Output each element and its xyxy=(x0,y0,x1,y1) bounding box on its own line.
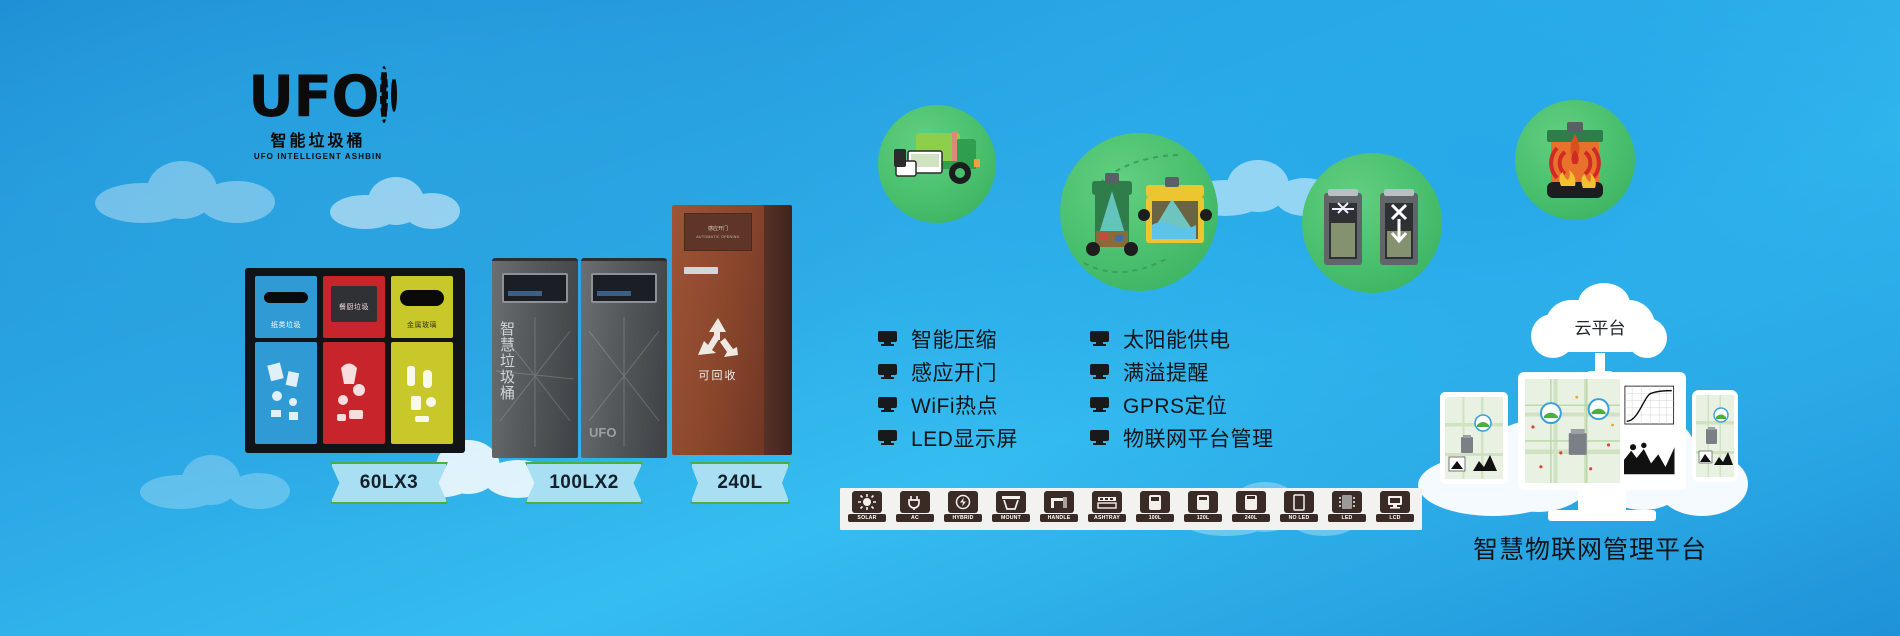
dashboard-charts-panel xyxy=(1620,379,1679,483)
ashtray-icon xyxy=(1097,495,1117,510)
feature-label: 物联网平台管理 xyxy=(1123,423,1274,453)
spec-icon-caption: AC xyxy=(896,514,934,522)
tablet-device xyxy=(1440,392,1508,484)
fire-alarm-bin-icon xyxy=(1515,100,1635,220)
gray-smart-bin: 智慧垃圾桶 UFO xyxy=(492,258,667,458)
monitor-device xyxy=(1518,372,1686,490)
feature-label: 满溢提醒 xyxy=(1123,357,1209,387)
monitor-bullet-icon xyxy=(878,364,897,379)
spec-icon-caption: SOLAR xyxy=(848,514,886,522)
feature-label: 感应开门 xyxy=(911,357,997,387)
spec-icon-lcd: LCD xyxy=(1373,491,1417,527)
feature-item: 太阳能供电 xyxy=(1090,322,1274,355)
feature-label: LED显示屏 xyxy=(911,423,1018,453)
gear-ring-icon xyxy=(380,66,388,123)
feature-item: 物联网平台管理 xyxy=(1090,421,1274,454)
bin-240l-icon xyxy=(1244,494,1258,511)
kitchen-waste-graphic xyxy=(323,342,385,442)
cloud-decoration xyxy=(140,455,290,511)
capacity-ribbon: 60LX3 xyxy=(330,462,448,504)
paper-waste-graphic xyxy=(255,342,317,442)
monitor-bullet-icon xyxy=(878,331,897,346)
bin-100l-icon xyxy=(1148,494,1162,511)
bin-sensor-strip xyxy=(684,267,718,274)
logo-wordmark: UFO xyxy=(248,62,388,124)
dashboard-map-panel xyxy=(1525,379,1620,483)
spec-icon-hybrid: HYBRID xyxy=(941,491,985,527)
feature-circle-fill-level xyxy=(1060,133,1218,291)
bin-compartment: 金属玻璃 xyxy=(391,276,453,444)
bin-compartment: 餐厨垃圾 xyxy=(323,276,385,444)
spec-icon-caption: HYBRID xyxy=(944,514,982,522)
spec-icon-ac: AC xyxy=(893,491,937,527)
feature-label: GPRS定位 xyxy=(1123,390,1228,420)
sun-icon xyxy=(858,494,876,510)
tablet-screen xyxy=(1445,397,1503,479)
bin-unit-left: 智慧垃圾桶 xyxy=(492,258,578,458)
monitor-stand xyxy=(1578,490,1626,512)
capacity-ribbon: 240L xyxy=(690,462,790,504)
line-chart-widget xyxy=(1624,383,1675,427)
spec-icon-caption: LED xyxy=(1328,514,1366,522)
feature-label: WiFi热点 xyxy=(911,390,998,420)
spec-icon-mount: MOUNT xyxy=(989,491,1033,527)
platform-caption: 智慧物联网管理平台 xyxy=(1460,530,1720,566)
spec-icon-solar: SOLAR xyxy=(845,491,889,527)
garbage-truck-monitoring-icon xyxy=(878,105,996,223)
feature-label: 智能压缩 xyxy=(911,324,997,354)
spec-icon-caption: LCD xyxy=(1376,514,1414,522)
monitor-bullet-icon xyxy=(878,397,897,412)
feature-item: 智能压缩 xyxy=(878,322,1018,355)
bin-unit-right: UFO xyxy=(581,258,667,458)
monitor-bullet-icon xyxy=(878,430,897,445)
monitor-bullet-icon xyxy=(1090,331,1109,346)
top-panel-en-label: AUTOMATIC OPENING xyxy=(685,235,751,239)
bin-surface-pattern xyxy=(492,261,578,461)
handle-icon xyxy=(1049,495,1069,510)
led-panel-icon xyxy=(1338,494,1356,510)
spec-icon-handle: HANDLE xyxy=(1037,491,1081,527)
feature-item: GPRS定位 xyxy=(1090,388,1274,421)
spec-icon-caption: NO LED xyxy=(1280,514,1318,522)
metal-glass-waste-graphic xyxy=(391,342,453,442)
brown-recycling-bin: 感应开门 AUTOMATIC OPENING 可回收 xyxy=(672,205,792,455)
feature-label: 太阳能供电 xyxy=(1123,324,1231,354)
spec-icon-caption: MOUNT xyxy=(992,514,1030,522)
monitor-base xyxy=(1548,510,1656,521)
cloud-decoration xyxy=(95,155,275,225)
monitor-bullet-icon xyxy=(1090,430,1109,445)
feature-circle-compaction xyxy=(1302,153,1442,293)
wall-mount-icon xyxy=(1001,495,1021,510)
cloud-decoration xyxy=(330,175,460,233)
triple-compartment-bin: 纸类垃圾 餐厨垃圾 xyxy=(245,268,465,453)
phone-screen xyxy=(1696,395,1734,477)
bin-side-panel xyxy=(760,205,792,455)
bin-front-face: 感应开门 AUTOMATIC OPENING 可回收 xyxy=(672,205,764,455)
spec-icon-caption: 100L xyxy=(1136,514,1174,522)
area-chart-widget xyxy=(1624,436,1675,478)
cloud-platform-label: 云平台 xyxy=(1575,314,1626,339)
lcd-screen-icon xyxy=(1386,494,1404,510)
logo-english-tagline: UFO INTELLIGENT ASHBIN xyxy=(248,152,388,161)
spec-icon-240l: 240L xyxy=(1229,491,1273,527)
logo-chinese-name: 智能垃圾桶 xyxy=(248,127,388,151)
spec-icon-ashtray: ASHTRAY xyxy=(1085,491,1129,527)
spec-icon-strip: SOLAR AC HYBRID MOUNT HANDLE ASHTRAY 100… xyxy=(840,488,1422,530)
feature-item: WiFi热点 xyxy=(878,388,1018,421)
top-panel-cn-label: 感应开门 xyxy=(685,225,751,232)
feature-column-right: 太阳能供电 满溢提醒 GPRS定位 物联网平台管理 xyxy=(1090,322,1274,454)
phone-device xyxy=(1692,390,1738,482)
monitor-screen xyxy=(1525,379,1679,483)
spec-icon-caption: ASHTRAY xyxy=(1088,514,1126,522)
compartment-label: 金属玻璃 xyxy=(391,320,453,330)
feature-circle-fire-alarm xyxy=(1515,100,1635,220)
bin-slot xyxy=(264,292,308,303)
feature-item: LED显示屏 xyxy=(878,421,1018,454)
spec-icon-caption: HANDLE xyxy=(1040,514,1078,522)
cloud-platform-badge: 云平台 xyxy=(1545,300,1655,352)
feature-circle-collection-truck xyxy=(878,105,996,223)
bin-top-panel: 感应开门 AUTOMATIC OPENING xyxy=(684,213,752,251)
no-led-icon xyxy=(1292,494,1306,511)
bin-compaction-icon xyxy=(1302,153,1442,293)
compartment-label: 纸类垃圾 xyxy=(255,320,317,330)
banner-root: UFO 智能垃圾桶 UFO INTELLIGENT ASHBIN 纸类垃圾 xyxy=(0,0,1900,636)
bin-slot xyxy=(400,290,444,306)
bin-fill-sensor-icon xyxy=(1060,133,1218,291)
monitor-bullet-icon xyxy=(1090,397,1109,412)
recycle-icon xyxy=(692,315,744,363)
capacity-ribbon: 100LX2 xyxy=(525,462,643,504)
spec-icon-led: LED xyxy=(1325,491,1369,527)
brand-logo: UFO 智能垃圾桶 UFO INTELLIGENT ASHBIN xyxy=(248,62,388,157)
feature-item: 满溢提醒 xyxy=(1090,355,1274,388)
logo-text: UFO xyxy=(248,70,379,124)
spec-icon-100l: 100L xyxy=(1133,491,1177,527)
spec-icon-no-led: NO LED xyxy=(1277,491,1321,527)
spec-icon-caption: 240L xyxy=(1232,514,1270,522)
feature-column-left: 智能压缩 感应开门 WiFi热点 LED显示屏 xyxy=(878,322,1018,454)
power-plug-icon xyxy=(906,494,924,510)
hybrid-power-icon xyxy=(954,494,972,510)
spec-icon-caption: 120L xyxy=(1184,514,1222,522)
spec-icon-120l: 120L xyxy=(1181,491,1225,527)
feature-item: 感应开门 xyxy=(878,355,1018,388)
compartment-label: 餐厨垃圾 xyxy=(323,302,385,312)
bin-compartment: 纸类垃圾 xyxy=(255,276,317,444)
monitor-bullet-icon xyxy=(1090,364,1109,379)
recycle-label: 可回收 xyxy=(684,367,752,383)
bin-surface-pattern xyxy=(581,261,667,461)
bin-120l-icon xyxy=(1196,494,1210,511)
